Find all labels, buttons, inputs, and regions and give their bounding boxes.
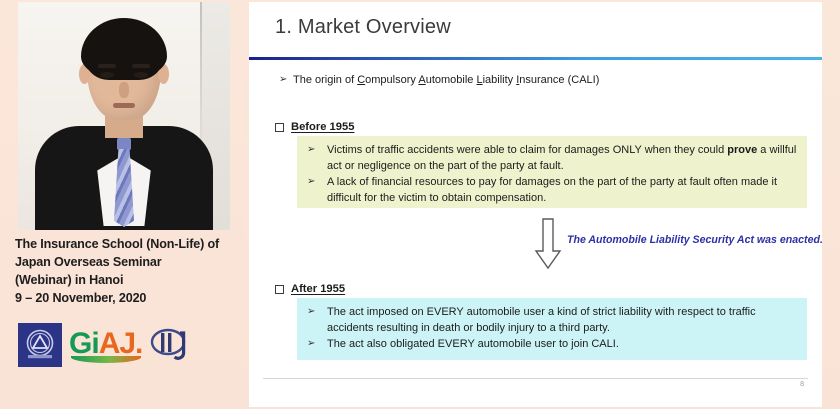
- after-bullet-2-text: The act also obligated EVERY automobile …: [327, 337, 619, 353]
- list-item: ➢ The act imposed on EVERY automobile us…: [303, 305, 797, 336]
- presenter-brow-left: [98, 64, 116, 68]
- organization-logos: GiAJ.: [18, 322, 193, 368]
- section-heading-after-1955: After 1955: [275, 283, 345, 295]
- presentation-recording-frame: The Insurance School (Non-Life) of Japan…: [0, 0, 840, 409]
- slide-canvas[interactable]: 1. Market Overview ➢ The origin of Compu…: [249, 2, 822, 407]
- presenter-brow-right: [132, 64, 150, 68]
- transition-note: The Automobile Liability Security Act wa…: [567, 234, 822, 246]
- giaj-swoosh-icon: [71, 356, 141, 363]
- square-bullet-icon: [275, 123, 284, 132]
- callout-box-before-1955: ➢ Victims of traffic accidents were able…: [297, 136, 807, 208]
- bullet-origin-of-cali: ➢ The origin of Compulsory Automobile Li…: [279, 74, 799, 86]
- slide-title: 1. Market Overview: [275, 16, 451, 39]
- title-divider: [249, 57, 822, 60]
- before-bullet-2-text: A lack of financial resources to pay for…: [327, 175, 797, 206]
- down-arrow-icon: [534, 218, 562, 270]
- arrow-bullet-icon: ➢: [303, 175, 327, 206]
- presenter-eye-left: [100, 72, 114, 78]
- giaj-letter-i: i: [91, 327, 98, 360]
- callout-box-after-1955: ➢ The act imposed on EVERY automobile us…: [297, 298, 807, 360]
- presenter-video[interactable]: [18, 2, 230, 230]
- arrow-bullet-icon: ➢: [303, 337, 327, 353]
- slide-panel: 1. Market Overview ➢ The origin of Compu…: [245, 0, 840, 409]
- presenter-eye-right: [134, 72, 148, 78]
- list-item: ➢ A lack of financial resources to pay f…: [303, 175, 797, 206]
- after-bullet-1-text: The act imposed on EVERY automobile user…: [327, 305, 797, 336]
- section-heading-after-label: After 1955: [291, 283, 345, 295]
- section-heading-before-label: Before 1955: [291, 121, 354, 133]
- iij-logo-icon: [149, 327, 193, 363]
- list-item: ➢ Victims of traffic accidents were able…: [303, 143, 797, 174]
- page-number: 8: [800, 381, 804, 388]
- caption-line-1: The Insurance School (Non-Life) of: [15, 236, 237, 254]
- arrow-bullet-icon: ➢: [303, 305, 327, 336]
- presenter-nose: [119, 82, 129, 98]
- square-bullet-icon: [275, 285, 284, 294]
- arrow-bullet-icon: ➢: [303, 143, 327, 174]
- giaj-emblem-icon: [18, 323, 62, 367]
- presenter-mouth: [113, 103, 135, 108]
- caption-line-3: (Webinar) in Hanoi: [15, 272, 237, 290]
- arrow-bullet-icon: ➢: [279, 74, 293, 86]
- presenter-panel: The Insurance School (Non-Life) of Japan…: [0, 0, 245, 409]
- caption-line-4: 9 – 20 November, 2020: [15, 290, 237, 308]
- seminar-caption: The Insurance School (Non-Life) of Japan…: [15, 236, 237, 308]
- list-item: ➢ The act also obligated EVERY automobil…: [303, 337, 797, 353]
- before-bullet-1-text: Victims of traffic accidents were able t…: [327, 143, 797, 174]
- caption-line-2: Japan Overseas Seminar: [15, 254, 237, 272]
- presenter-tie-knot: [117, 138, 131, 150]
- section-heading-before-1955: Before 1955: [275, 121, 354, 133]
- giaj-letter-g: G: [69, 327, 91, 360]
- giaj-letter-a: A: [99, 327, 120, 360]
- giaj-wordmark: GiAJ.: [69, 329, 142, 362]
- footer-divider: [263, 378, 808, 379]
- studio-wall-edge: [200, 2, 202, 152]
- giaj-letter-j: J.: [119, 327, 142, 360]
- bullet-origin-text: The origin of Compulsory Automobile Liab…: [293, 74, 599, 86]
